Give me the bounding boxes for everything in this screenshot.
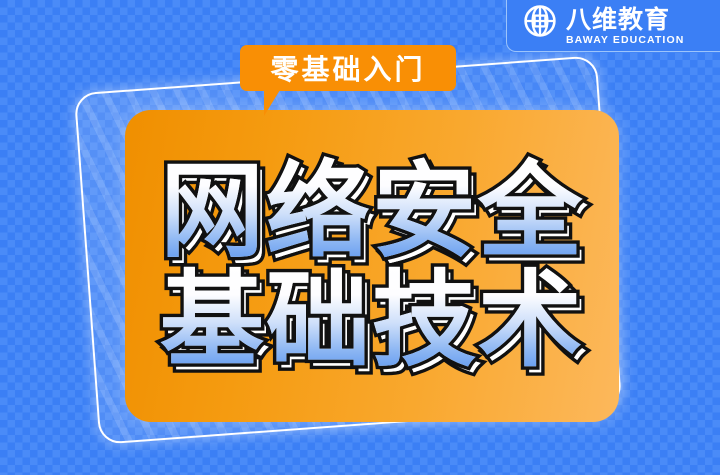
title-line-1-face-fill: 网络安全 [160, 158, 584, 265]
main-orange-card: 网络安全 网络安全 网络安全 网络安全 基础技术 基础技术 基础技术 基础技术 [125, 110, 619, 422]
brand-name-en: BAWAY EDUCATION [566, 35, 684, 46]
globe-icon [523, 4, 557, 43]
badge-tail-icon [264, 90, 280, 116]
title-line-2: 基础技术 基础技术 基础技术 基础技术 [160, 267, 584, 374]
title-line-2-face-fill: 基础技术 [160, 267, 584, 374]
zero-basis-badge: 零基础入门 [240, 45, 456, 91]
title-block: 网络安全 网络安全 网络安全 网络安全 基础技术 基础技术 基础技术 基础技术 [125, 110, 619, 422]
badge-label: 零基础入门 [270, 48, 425, 88]
brand-text: 八维教育 BAWAY EDUCATION [566, 7, 684, 46]
brand-logo-panel: 八维教育 BAWAY EDUCATION [506, 0, 720, 52]
poster-canvas: 网络安全 网络安全 网络安全 网络安全 基础技术 基础技术 基础技术 基础技术 … [0, 0, 720, 475]
title-line-1: 网络安全 网络安全 网络安全 网络安全 [160, 158, 584, 265]
brand-name-cn: 八维教育 [566, 7, 670, 32]
